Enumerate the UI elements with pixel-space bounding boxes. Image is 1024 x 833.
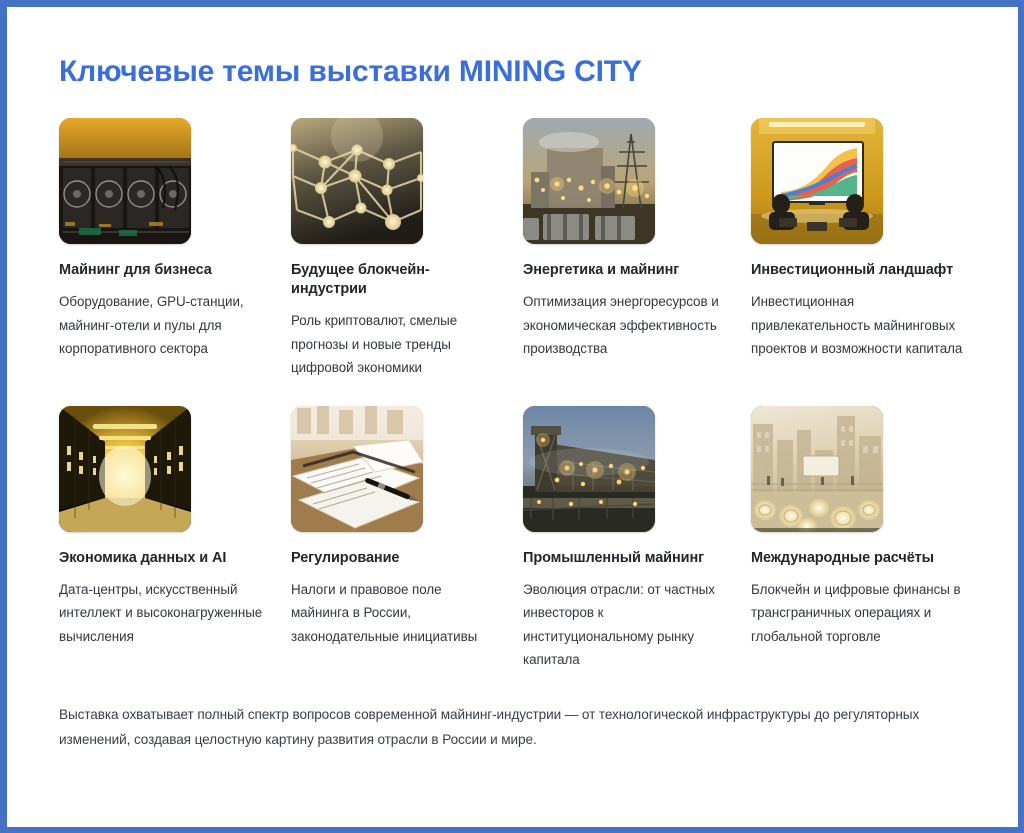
card-description: Дата-центры, искусственный интеллект и в… (59, 578, 269, 648)
page-content: Ключевые темы выставки MINING CITY (7, 7, 1018, 827)
data-center-corridor-photo (59, 406, 191, 532)
topic-card[interactable]: Инвестиционный ландшафт Инвестиционная п… (751, 118, 987, 380)
card-description: Налоги и правовое поле майнинга в России… (291, 578, 501, 648)
gpu-mining-rig-photo (59, 118, 191, 244)
page-frame: Ключевые темы выставки MINING CITY (0, 0, 1024, 833)
page-title: Ключевые темы выставки MINING CITY (59, 55, 974, 88)
topic-card[interactable]: Экономика данных и AI Дата-центры, искус… (59, 406, 291, 672)
blockchain-network-mesh-photo (291, 118, 423, 244)
card-description: Оптимизация энергоресурсов и экономическ… (523, 290, 729, 360)
topic-grid-row-2: Экономика данных и AI Дата-центры, искус… (59, 406, 974, 672)
topic-card[interactable]: Международные расчёты Блокчейн и цифровы… (751, 406, 987, 672)
card-title: Регулирование (291, 549, 501, 568)
card-title: Экономика данных и AI (59, 549, 269, 568)
industrial-mine-twilight-photo (523, 406, 655, 532)
card-title: Инвестиционный ландшафт (751, 261, 965, 280)
city-skyline-coins-photo (751, 406, 883, 532)
card-description: Роль криптовалют, смелые прогнозы и новы… (291, 309, 501, 379)
topic-grid-row-1: Майнинг для бизнеса Оборудование, GPU-ст… (59, 118, 974, 380)
card-title: Будущее блокчейн-индустрии (291, 261, 501, 299)
footer-note: Выставка охватывает полный спектр вопрос… (59, 702, 974, 752)
legal-documents-pen-photo (291, 406, 423, 532)
card-title: Промышленный майнинг (523, 549, 729, 568)
topic-card[interactable]: Регулирование Налоги и правовое поле май… (291, 406, 523, 672)
card-title: Международные расчёты (751, 549, 965, 568)
card-description: Инвестиционная привлекательность майнинг… (751, 290, 965, 360)
card-title: Энергетика и майнинг (523, 261, 729, 280)
topic-card[interactable]: Будущее блокчейн-индустрии Роль криптова… (291, 118, 523, 380)
topic-card[interactable]: Промышленный майнинг Эволюция отрасли: о… (523, 406, 751, 672)
topic-card[interactable]: Майнинг для бизнеса Оборудование, GPU-ст… (59, 118, 291, 380)
topic-card[interactable]: Энергетика и майнинг Оптимизация энергор… (523, 118, 751, 380)
card-title: Майнинг для бизнеса (59, 261, 269, 280)
card-description: Эволюция отрасли: от частных инвесторов … (523, 578, 729, 672)
card-description: Оборудование, GPU-станции, майнинг-отели… (59, 290, 269, 360)
boardroom-growth-chart-photo (751, 118, 883, 244)
card-description: Блокчейн и цифровые финансы в трансграни… (751, 578, 965, 648)
power-plant-at-dusk-photo (523, 118, 655, 244)
